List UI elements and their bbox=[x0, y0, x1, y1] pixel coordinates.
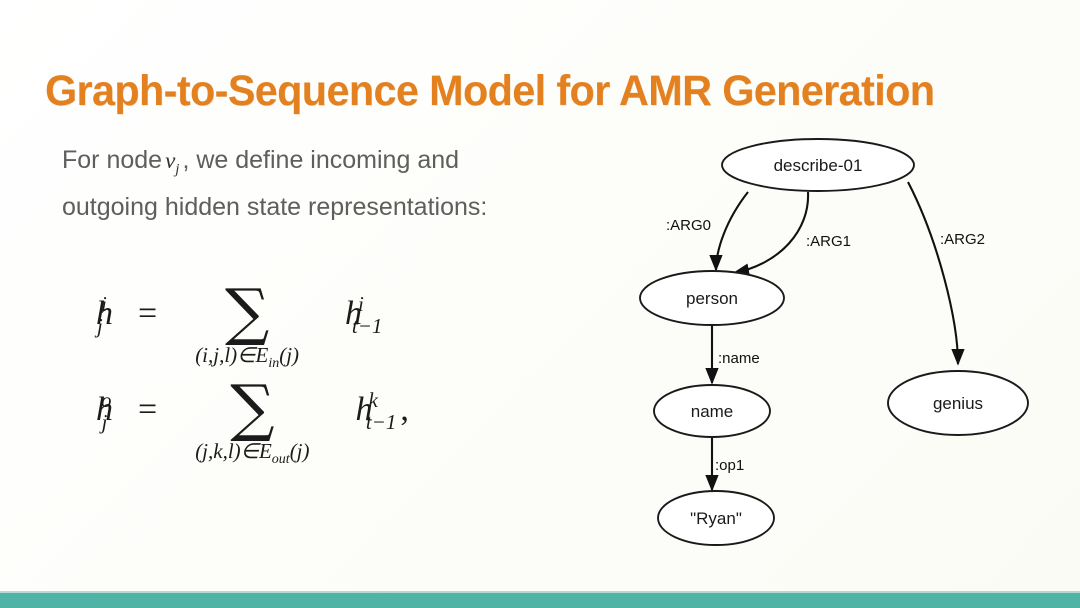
equation-incoming-rhs: hit−1 bbox=[345, 295, 398, 333]
eq1-summation-limit: (i,j,l)∈Ein(j) bbox=[195, 343, 299, 372]
node-label-name: name bbox=[691, 402, 734, 421]
graph-node-describe[interactable]: describe-01 bbox=[722, 139, 914, 191]
accent-bar bbox=[0, 593, 1080, 608]
node-label-genius: genius bbox=[933, 394, 983, 413]
body-text-line1-prefix: For node bbox=[62, 146, 162, 174]
eq1-lhs-subscript: j bbox=[97, 314, 103, 338]
eq1-limit-prefix: (i,j,l)∈E bbox=[195, 343, 268, 367]
sigma-icon: ∑ bbox=[225, 283, 269, 341]
edge-arg1-path bbox=[734, 192, 808, 273]
slide-canvas: Graph-to-Sequence Model for AMR Generati… bbox=[0, 0, 1080, 608]
graph-node-genius[interactable]: genius bbox=[888, 371, 1028, 435]
edge-label-arg1: :ARG1 bbox=[806, 233, 851, 250]
inline-math-node-variable: vj bbox=[162, 148, 182, 173]
eq2-relation: = bbox=[138, 391, 157, 429]
eq2-rhs-superscript: k bbox=[369, 388, 378, 412]
body-text-line3: representations: bbox=[308, 193, 487, 221]
node-label-person: person bbox=[686, 289, 738, 308]
eq1-relation: = bbox=[138, 295, 157, 333]
sigma-icon: ∑ bbox=[230, 379, 274, 437]
graph-node-person[interactable]: person bbox=[640, 271, 784, 325]
edge-label-name: :name bbox=[718, 350, 760, 367]
equation-block: hij = ∑ (i,j,l)∈Ein(j) hit−1 hoj = ∑ (j,… bbox=[96, 283, 421, 475]
eq2-limit-suffix: (j) bbox=[290, 439, 310, 463]
math-variable-base: v bbox=[165, 148, 175, 173]
math-variable-subscript: j bbox=[175, 162, 179, 178]
eq2-summation: ∑ (j,k,l)∈Eout(j) bbox=[195, 379, 309, 468]
equation-outgoing-rhs: hkt−1, bbox=[356, 391, 421, 429]
eq2-summation-limit: (j,k,l)∈Eout(j) bbox=[195, 439, 309, 468]
body-text-block: For nodevj, we define incoming and outgo… bbox=[62, 142, 502, 226]
node-label-ryan: "Ryan" bbox=[690, 509, 742, 528]
edge-label-arg0: :ARG0 bbox=[666, 217, 711, 234]
eq1-lhs-superscript: i bbox=[101, 292, 107, 316]
eq1-rhs-superscript: i bbox=[358, 292, 364, 316]
eq2-lhs-subscript: j bbox=[102, 410, 108, 434]
graph-node-name[interactable]: name bbox=[654, 385, 770, 437]
page-title: Graph-to-Sequence Model for AMR Generati… bbox=[45, 67, 934, 116]
amr-graph-diagram: :ARG0 :ARG1 :ARG2 :name :op1 describe-01… bbox=[620, 120, 1060, 570]
eq2-limit-subscript: out bbox=[272, 452, 290, 467]
equation-outgoing: hoj = ∑ (j,k,l)∈Eout(j) hkt−1, bbox=[96, 379, 421, 475]
eq2-rhs-subscript: t−1 bbox=[366, 410, 397, 434]
eq2-limit-prefix: (j,k,l)∈E bbox=[195, 439, 272, 463]
equation-incoming: hij = ∑ (i,j,l)∈Ein(j) hit−1 bbox=[96, 283, 421, 379]
edge-label-arg2: :ARG2 bbox=[940, 231, 985, 248]
eq1-limit-suffix: (j) bbox=[279, 343, 299, 367]
graph-edges bbox=[712, 182, 958, 490]
edge-arg2-path bbox=[908, 182, 958, 364]
edge-label-op1: :op1 bbox=[715, 457, 744, 474]
graph-node-ryan[interactable]: "Ryan" bbox=[658, 491, 774, 545]
eq1-rhs-subscript: t−1 bbox=[352, 314, 383, 338]
node-label-describe: describe-01 bbox=[774, 156, 863, 175]
eq2-lhs-superscript: o bbox=[101, 388, 112, 412]
eq2-trailing-comma: , bbox=[400, 391, 409, 428]
edge-arg0-path bbox=[716, 192, 748, 270]
eq1-summation: ∑ (i,j,l)∈Ein(j) bbox=[195, 283, 299, 372]
eq1-limit-subscript: in bbox=[268, 356, 279, 371]
body-text-line1-suffix: , we define incoming bbox=[182, 146, 410, 174]
